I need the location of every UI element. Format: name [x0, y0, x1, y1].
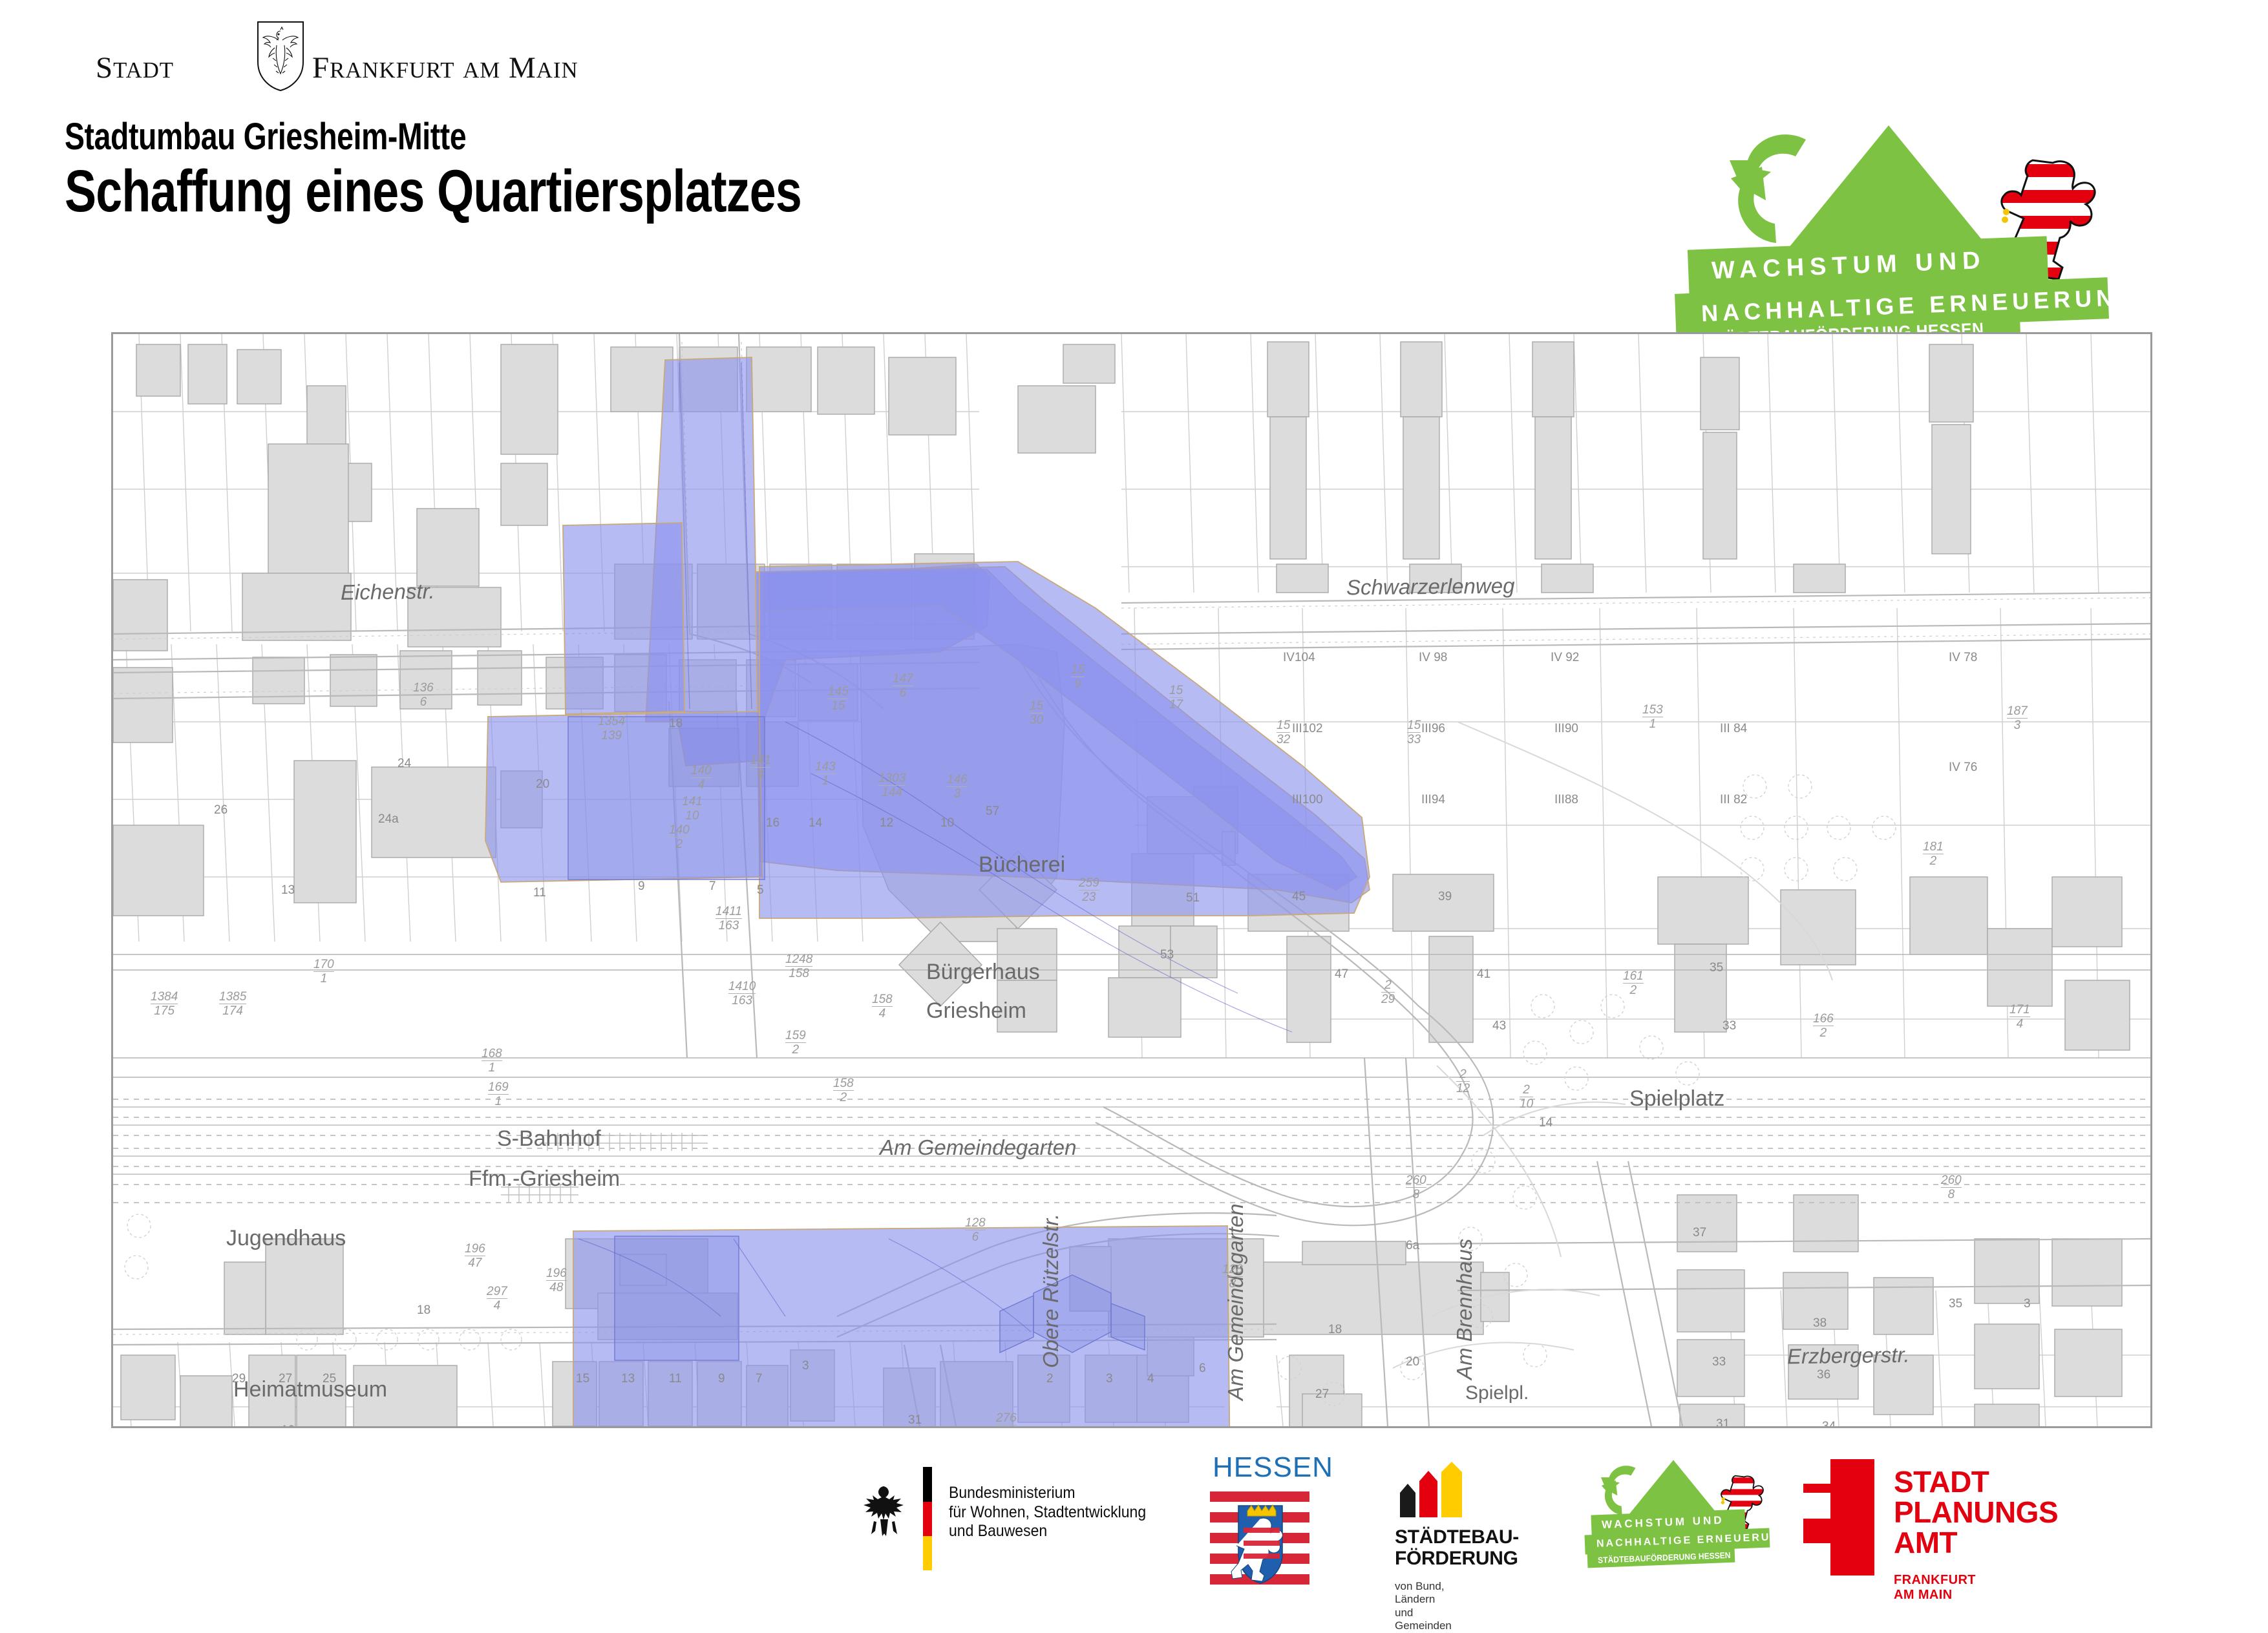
house-number: 45 — [1292, 890, 1306, 904]
place-label-griesheim: Griesheim — [926, 998, 1026, 1024]
house-number: 47 — [1335, 967, 1348, 982]
house-number: 34 — [1218, 1426, 1232, 1428]
parcel-number: 25923 — [1079, 877, 1099, 903]
parcel-number-bottom: 29 — [1381, 993, 1395, 1006]
house-number: 24 — [397, 757, 411, 771]
parcel-number: 1662 — [1813, 1013, 1834, 1039]
house-number: 20 — [536, 777, 549, 792]
house-number: 57 — [986, 805, 999, 819]
house-number: 24a — [378, 812, 399, 827]
house-number: 9 — [718, 1372, 725, 1386]
sbf-subtitle: von Bund, Ländern und Gemeinden — [1395, 1580, 1452, 1633]
parcel-number-top: 15 — [1030, 700, 1043, 713]
sbf-title: STÄDTEBAU- FÖRDERUNG — [1395, 1526, 1519, 1569]
house-number: 10 — [940, 816, 954, 830]
parcel-number: 1476 — [893, 673, 913, 699]
house-number: 20 — [1406, 1355, 1419, 1369]
street-label-eichenstr: Eichenstr. — [341, 579, 435, 605]
parcel-number-top: 158 — [872, 993, 893, 1007]
parcel-number-top: 145 — [828, 686, 849, 699]
bmwsb-flag-bar — [923, 1467, 932, 1570]
frankfurt-eagle-crest — [255, 19, 306, 92]
house-number: 25 — [323, 1372, 336, 1386]
parcel-number-top: 187 — [2007, 705, 2028, 719]
place-label-buergerhaus: Bürgerhaus — [926, 960, 1040, 985]
parcel-number: 1584 — [872, 993, 893, 1020]
house-number: 35 — [1710, 961, 1723, 975]
parcel-number-top: 153 — [1642, 704, 1663, 717]
parcel-number-bottom: 2 — [833, 1091, 854, 1104]
parcel-number: 1410163 — [728, 980, 756, 1007]
parcel-number-bottom: 8 — [1222, 1277, 1243, 1290]
house-number: 6 — [1199, 1362, 1206, 1376]
parcel-number: 1414 — [750, 754, 771, 781]
parcel-number-bottom: 175 — [151, 1004, 178, 1017]
hessen-wordmark: HESSEN — [1213, 1451, 1333, 1484]
house-number: 13 — [621, 1372, 635, 1386]
parcel-number-top: 196 — [546, 1267, 567, 1281]
parcel-number-top: 161 — [1623, 970, 1644, 984]
house-number: 27 — [1315, 1387, 1329, 1402]
parcel-number: 1531 — [1642, 704, 1663, 730]
parcel-number-top: 143 — [815, 761, 836, 774]
parcel-number: 1532 — [1277, 719, 1290, 746]
parcel-number-top: 1303 — [878, 772, 906, 786]
parcel-number: 2608 — [1406, 1174, 1426, 1201]
parcel-number: 1404 — [691, 764, 712, 791]
house-number: IV 92 — [1551, 651, 1579, 665]
parcel-number-top: 1384 — [151, 991, 178, 1004]
house-number: 34 — [1822, 1420, 1836, 1428]
bmwsb-text: Bundesministerium für Wohnen, Stadtentwi… — [949, 1484, 1146, 1541]
house-number: 33 — [1722, 1019, 1736, 1033]
parcel-number: 19648 — [546, 1267, 567, 1294]
house-number: 4 — [1147, 1372, 1154, 1386]
three-houses-icon — [1397, 1462, 1462, 1517]
parcel-number: 229 — [1381, 979, 1395, 1006]
house-number: 3 — [802, 1359, 809, 1373]
house-number: 33 — [1712, 1355, 1726, 1369]
parcel-number-bottom: 3 — [2007, 719, 2028, 732]
parcel-number: 1592 — [785, 1029, 806, 1056]
hessen-state-crest — [1210, 1491, 1309, 1586]
house-number: 12 — [880, 816, 893, 830]
parcel-number-top: 136 — [413, 682, 434, 695]
house-number: 3 — [1106, 1372, 1113, 1386]
parcel-number-top: 1410 — [728, 980, 756, 994]
place-label-buecherei: Bücherei — [979, 852, 1065, 878]
parcel-number-top: 259 — [1079, 877, 1099, 890]
parcel-number-bottom: 10 — [682, 809, 703, 822]
house-number: 43 — [1492, 1019, 1506, 1033]
parcel-number-bottom: 23 — [1079, 890, 1099, 903]
house-number: 38 — [1813, 1316, 1827, 1331]
bundesadler-eagle — [861, 1484, 907, 1539]
house-number: 7 — [756, 1372, 763, 1386]
parcel-number-bottom: 4 — [2009, 1017, 2030, 1030]
place-label-s-bahnhof: S-Bahnhof — [497, 1126, 601, 1152]
parcel-number: 19647 — [465, 1243, 485, 1269]
house-number: 31 — [908, 1413, 922, 1428]
parcel-number-bottom: 48 — [546, 1281, 567, 1294]
parcel-number-bottom: 4 — [487, 1299, 507, 1312]
street-label-schwarzerlenweg: Schwarzerlenweg — [1346, 574, 1515, 600]
parcel-number-bottom: 15 — [828, 699, 849, 712]
house-number: 11 — [533, 886, 546, 900]
parcel-number: 1530 — [1030, 700, 1043, 726]
parcel-number-bottom: 6 — [893, 686, 913, 699]
parcel-number: 1463 — [947, 774, 968, 800]
parcel-number: 1288 — [1222, 1263, 1243, 1290]
house-number: III90 — [1554, 722, 1578, 736]
parcel-number-top: 147 — [893, 673, 913, 686]
parcel-number: 2974 — [487, 1285, 507, 1312]
house-number: 18 — [669, 717, 683, 731]
parcel-number-top: 128 — [1222, 1263, 1243, 1277]
parcel-number-top: 140 — [691, 764, 712, 778]
parcel-number-bottom: 9 — [1071, 677, 1085, 690]
house-number: 29 — [232, 1372, 246, 1386]
parcel-number-top: 158 — [833, 1077, 854, 1091]
house-number: 41 — [1477, 967, 1490, 982]
street-label-erzbergerstr: Erzbergerstr. — [1787, 1343, 1910, 1369]
parcel-number-bottom: 139 — [598, 729, 625, 742]
page-header: STADT FRANKFURT AM MAIN Stadtumbau Gries… — [0, 0, 2268, 323]
parcel-number-top: 141 — [682, 795, 703, 809]
parcel-number-bottom: 1 — [1642, 717, 1663, 730]
parcel-number-top: 171 — [2009, 1004, 2030, 1017]
parcel-number-top: 15 — [1169, 684, 1183, 698]
spa-mark-icon — [1803, 1459, 1874, 1575]
parcel-number: 1411163 — [715, 905, 742, 932]
place-label-jugendhaus: Jugendhaus — [226, 1226, 346, 1251]
street-label-am-brennhaus: Am Brennhaus — [1452, 1239, 1477, 1380]
place-label-spielpl: Spielpl. — [1465, 1382, 1529, 1404]
house-number: 18 — [417, 1303, 430, 1318]
parcel-number-top: 15 — [1277, 719, 1290, 733]
parcel-number-top: 140 — [669, 824, 690, 838]
parcel-number-bottom: 2 — [1813, 1026, 1834, 1039]
house-number: 13 — [281, 883, 295, 898]
parcel-number-bottom: 158 — [785, 967, 812, 980]
house-number: 19 — [281, 1424, 295, 1428]
house-number: 18 — [1328, 1323, 1342, 1337]
parcel-number: 1248158 — [785, 953, 812, 980]
parcel-number: 1582 — [833, 1077, 854, 1104]
house-number: IV 98 — [1419, 651, 1447, 665]
parcel-number-top: 260 — [1406, 1174, 1426, 1188]
parcel-number-top: 181 — [1923, 841, 1944, 854]
house-number: 31 — [1716, 1417, 1730, 1428]
cadastral-map[interactable]: Eichenstr. Schwarzerlenweg Erzbergerstr.… — [111, 332, 2152, 1428]
parcel-number-bottom: 2 — [1923, 854, 1944, 867]
parcel-number-top: 297 — [487, 1285, 507, 1299]
place-label-spielplatz: Spielplatz — [1629, 1086, 1724, 1111]
spa-sub: FRANKFURT AM MAIN — [1894, 1573, 1976, 1603]
house-number: III 84 — [1720, 722, 1747, 736]
house-number: 35 — [1949, 1297, 1962, 1311]
house-number: 5 — [757, 883, 764, 898]
city-logo-word-stadt: STADT — [96, 50, 174, 85]
parcel-number: 1714 — [2009, 1004, 2030, 1030]
house-number: 27 — [279, 1372, 292, 1386]
parcel-number-bottom: 4 — [750, 768, 771, 781]
parcel-number-bottom: 8 — [1941, 1188, 1962, 1201]
parcel-number: 1517 — [1169, 684, 1183, 711]
house-number: 15 — [576, 1372, 589, 1386]
parcel-number-bottom: 8 — [1406, 1188, 1426, 1201]
parcel-number: 2764 — [996, 1412, 1017, 1428]
parcel-number: 210 — [1520, 1084, 1533, 1110]
page-title: Schaffung eines Quartiersplatzes — [65, 158, 801, 226]
house-number: 11 — [669, 1372, 682, 1386]
parcel-number: 1431 — [815, 761, 836, 787]
parcel-number-bottom: 17 — [1169, 698, 1183, 711]
parcel-number-top: 128 — [965, 1217, 986, 1230]
parcel-number-top: 1248 — [785, 953, 812, 967]
house-number: III102 — [1292, 722, 1323, 736]
parcel-number-top: 1354 — [598, 715, 625, 729]
parcel-number: 2608 — [1941, 1174, 1962, 1201]
parcel-number-bottom: 32 — [1277, 733, 1290, 746]
parcel-number-bottom: 163 — [728, 994, 756, 1007]
parcel-number: 1612 — [1623, 970, 1644, 996]
parcel-number-top: 15 — [1071, 664, 1085, 677]
spa-wordmark: STADT PLANUNGS AMT — [1894, 1467, 2058, 1558]
house-number: 36 — [1817, 1368, 1830, 1382]
house-number: 39 — [1438, 890, 1452, 904]
house-number: 37 — [1693, 1226, 1706, 1240]
parcel-number-top: 2 — [1456, 1068, 1470, 1082]
house-number: III 82 — [1720, 793, 1747, 807]
parcel-number: 1701 — [313, 958, 334, 985]
parcel-number-top: 1385 — [219, 991, 246, 1004]
parcel-number-bottom: 6 — [413, 695, 434, 708]
parcel-number-top: 260 — [1941, 1174, 1962, 1188]
house-number: 7 — [709, 880, 716, 894]
house-number: 16 — [766, 816, 779, 830]
parcel-number: 1385174 — [219, 991, 246, 1017]
parcel-number-bottom: 174 — [219, 1004, 246, 1017]
house-number: III96 — [1421, 722, 1445, 736]
parcel-number-bottom: 3 — [947, 787, 968, 800]
parcel-number-top: 169 — [488, 1081, 509, 1095]
parcel-number-bottom: 6 — [965, 1230, 986, 1243]
city-logo-word-frankfurt: FRANKFURT AM MAIN — [312, 50, 578, 85]
parcel-number-bottom: 2 — [785, 1043, 806, 1056]
parcel-number-bottom: 144 — [878, 786, 906, 799]
house-number: IV 76 — [1949, 761, 1977, 775]
parcel-number: 1402 — [669, 824, 690, 850]
parcel-number: 1366 — [413, 682, 434, 708]
house-number: 9 — [638, 880, 645, 894]
parcel-number: 1533 — [1407, 719, 1421, 746]
house-number: 6a — [1406, 1239, 1419, 1253]
parcel-number-top: 159 — [785, 1029, 806, 1043]
parcel-number-bottom: 1 — [482, 1061, 502, 1074]
parcel-number-bottom: 2 — [1623, 984, 1644, 996]
parcel-number-top: 2 — [1381, 979, 1395, 993]
house-number: 25 — [1318, 1426, 1331, 1428]
house-number: 51 — [1186, 891, 1200, 905]
parcel-number-bottom: 1 — [815, 774, 836, 787]
house-number: III88 — [1554, 793, 1578, 807]
parcel-number: 14110 — [682, 795, 703, 822]
map-canvas — [113, 334, 2150, 1426]
page-footer: Bundesministerium für Wohnen, Stadtentwi… — [0, 1442, 2268, 1603]
wachstum-nachhaltige-erneuerung-logo-small: WACHSTUM UND NACHHALTIGE ERNEUERUNG STÄD… — [1585, 1458, 1798, 1587]
parcel-number-bottom: 2 — [669, 838, 690, 850]
parcel-number-top: 1411 — [715, 905, 742, 919]
parcel-number-bottom: 33 — [1407, 733, 1421, 746]
parcel-number-top: 146 — [947, 774, 968, 787]
parcel-number-top: 166 — [1813, 1013, 1834, 1026]
parcel-number-bottom: 4 — [691, 778, 712, 791]
parcel-number: 1286 — [965, 1217, 986, 1243]
parcel-number: 1691 — [488, 1081, 509, 1108]
project-subtitle: Stadtumbau Griesheim-Mitte — [65, 115, 466, 158]
house-number: 14 — [809, 816, 822, 830]
parcel-number-top: 196 — [465, 1243, 485, 1256]
house-number: 3 — [2024, 1297, 2031, 1311]
parcel-number-bottom: 1 — [488, 1095, 509, 1108]
street-label-am-gemeindegarten-v: Am Gemeindegarten — [1224, 1204, 1248, 1401]
parcel-number-top: 170 — [313, 958, 334, 972]
place-label-ffm-griesheim: Ffm.-Griesheim — [469, 1166, 620, 1192]
parcel-number-top: 168 — [482, 1048, 502, 1061]
house-number: III100 — [1292, 793, 1323, 807]
parcel-number-bottom: 47 — [465, 1256, 485, 1269]
house-number: 23 — [152, 1426, 165, 1428]
parcel-number-top: 2 — [1520, 1084, 1533, 1097]
house-number: 26 — [214, 803, 228, 817]
parcel-number-bottom: 4 — [872, 1007, 893, 1020]
parcel-number: 159 — [1071, 664, 1085, 690]
place-label-heimatmuseum: Heimatmuseum — [233, 1377, 387, 1402]
parcel-number-bottom: 10 — [1520, 1097, 1533, 1110]
parcel-number-bottom: 12 — [1456, 1082, 1470, 1095]
parcel-number: 1354139 — [598, 715, 625, 742]
house-number: III94 — [1421, 793, 1445, 807]
parcel-number-top: 276 — [996, 1412, 1017, 1426]
parcel-number: 1303144 — [878, 772, 906, 799]
parcel-number-bottom: 4 — [996, 1426, 1017, 1428]
street-label-obere-ruetzelstr: Obere Rützelstr. — [1039, 1214, 1063, 1368]
parcel-number-bottom: 163 — [715, 919, 742, 932]
house-number: 53 — [1160, 948, 1174, 962]
street-label-am-gemeindegarten-h: Am Gemeindegarten — [880, 1135, 1077, 1160]
house-number: 14 — [1539, 1116, 1553, 1130]
parcel-number: 1873 — [2007, 705, 2028, 732]
parcel-number: 1681 — [482, 1048, 502, 1074]
stadt-frankfurt-logo: STADT FRANKFURT AM MAIN — [96, 34, 509, 93]
parcel-number: 1812 — [1923, 841, 1944, 867]
parcel-number-bottom: 1 — [313, 972, 334, 985]
parcel-number: 212 — [1456, 1068, 1470, 1095]
parcel-number: 14515 — [828, 686, 849, 712]
house-number: IV104 — [1283, 651, 1315, 665]
parcel-number-bottom: 30 — [1030, 713, 1043, 726]
house-number: 2 — [1046, 1372, 1054, 1386]
parcel-number-top: 141 — [750, 754, 771, 768]
house-number: IV 78 — [1949, 651, 1977, 665]
parcel-number: 1384175 — [151, 991, 178, 1017]
parcel-number-top: 15 — [1407, 719, 1421, 733]
